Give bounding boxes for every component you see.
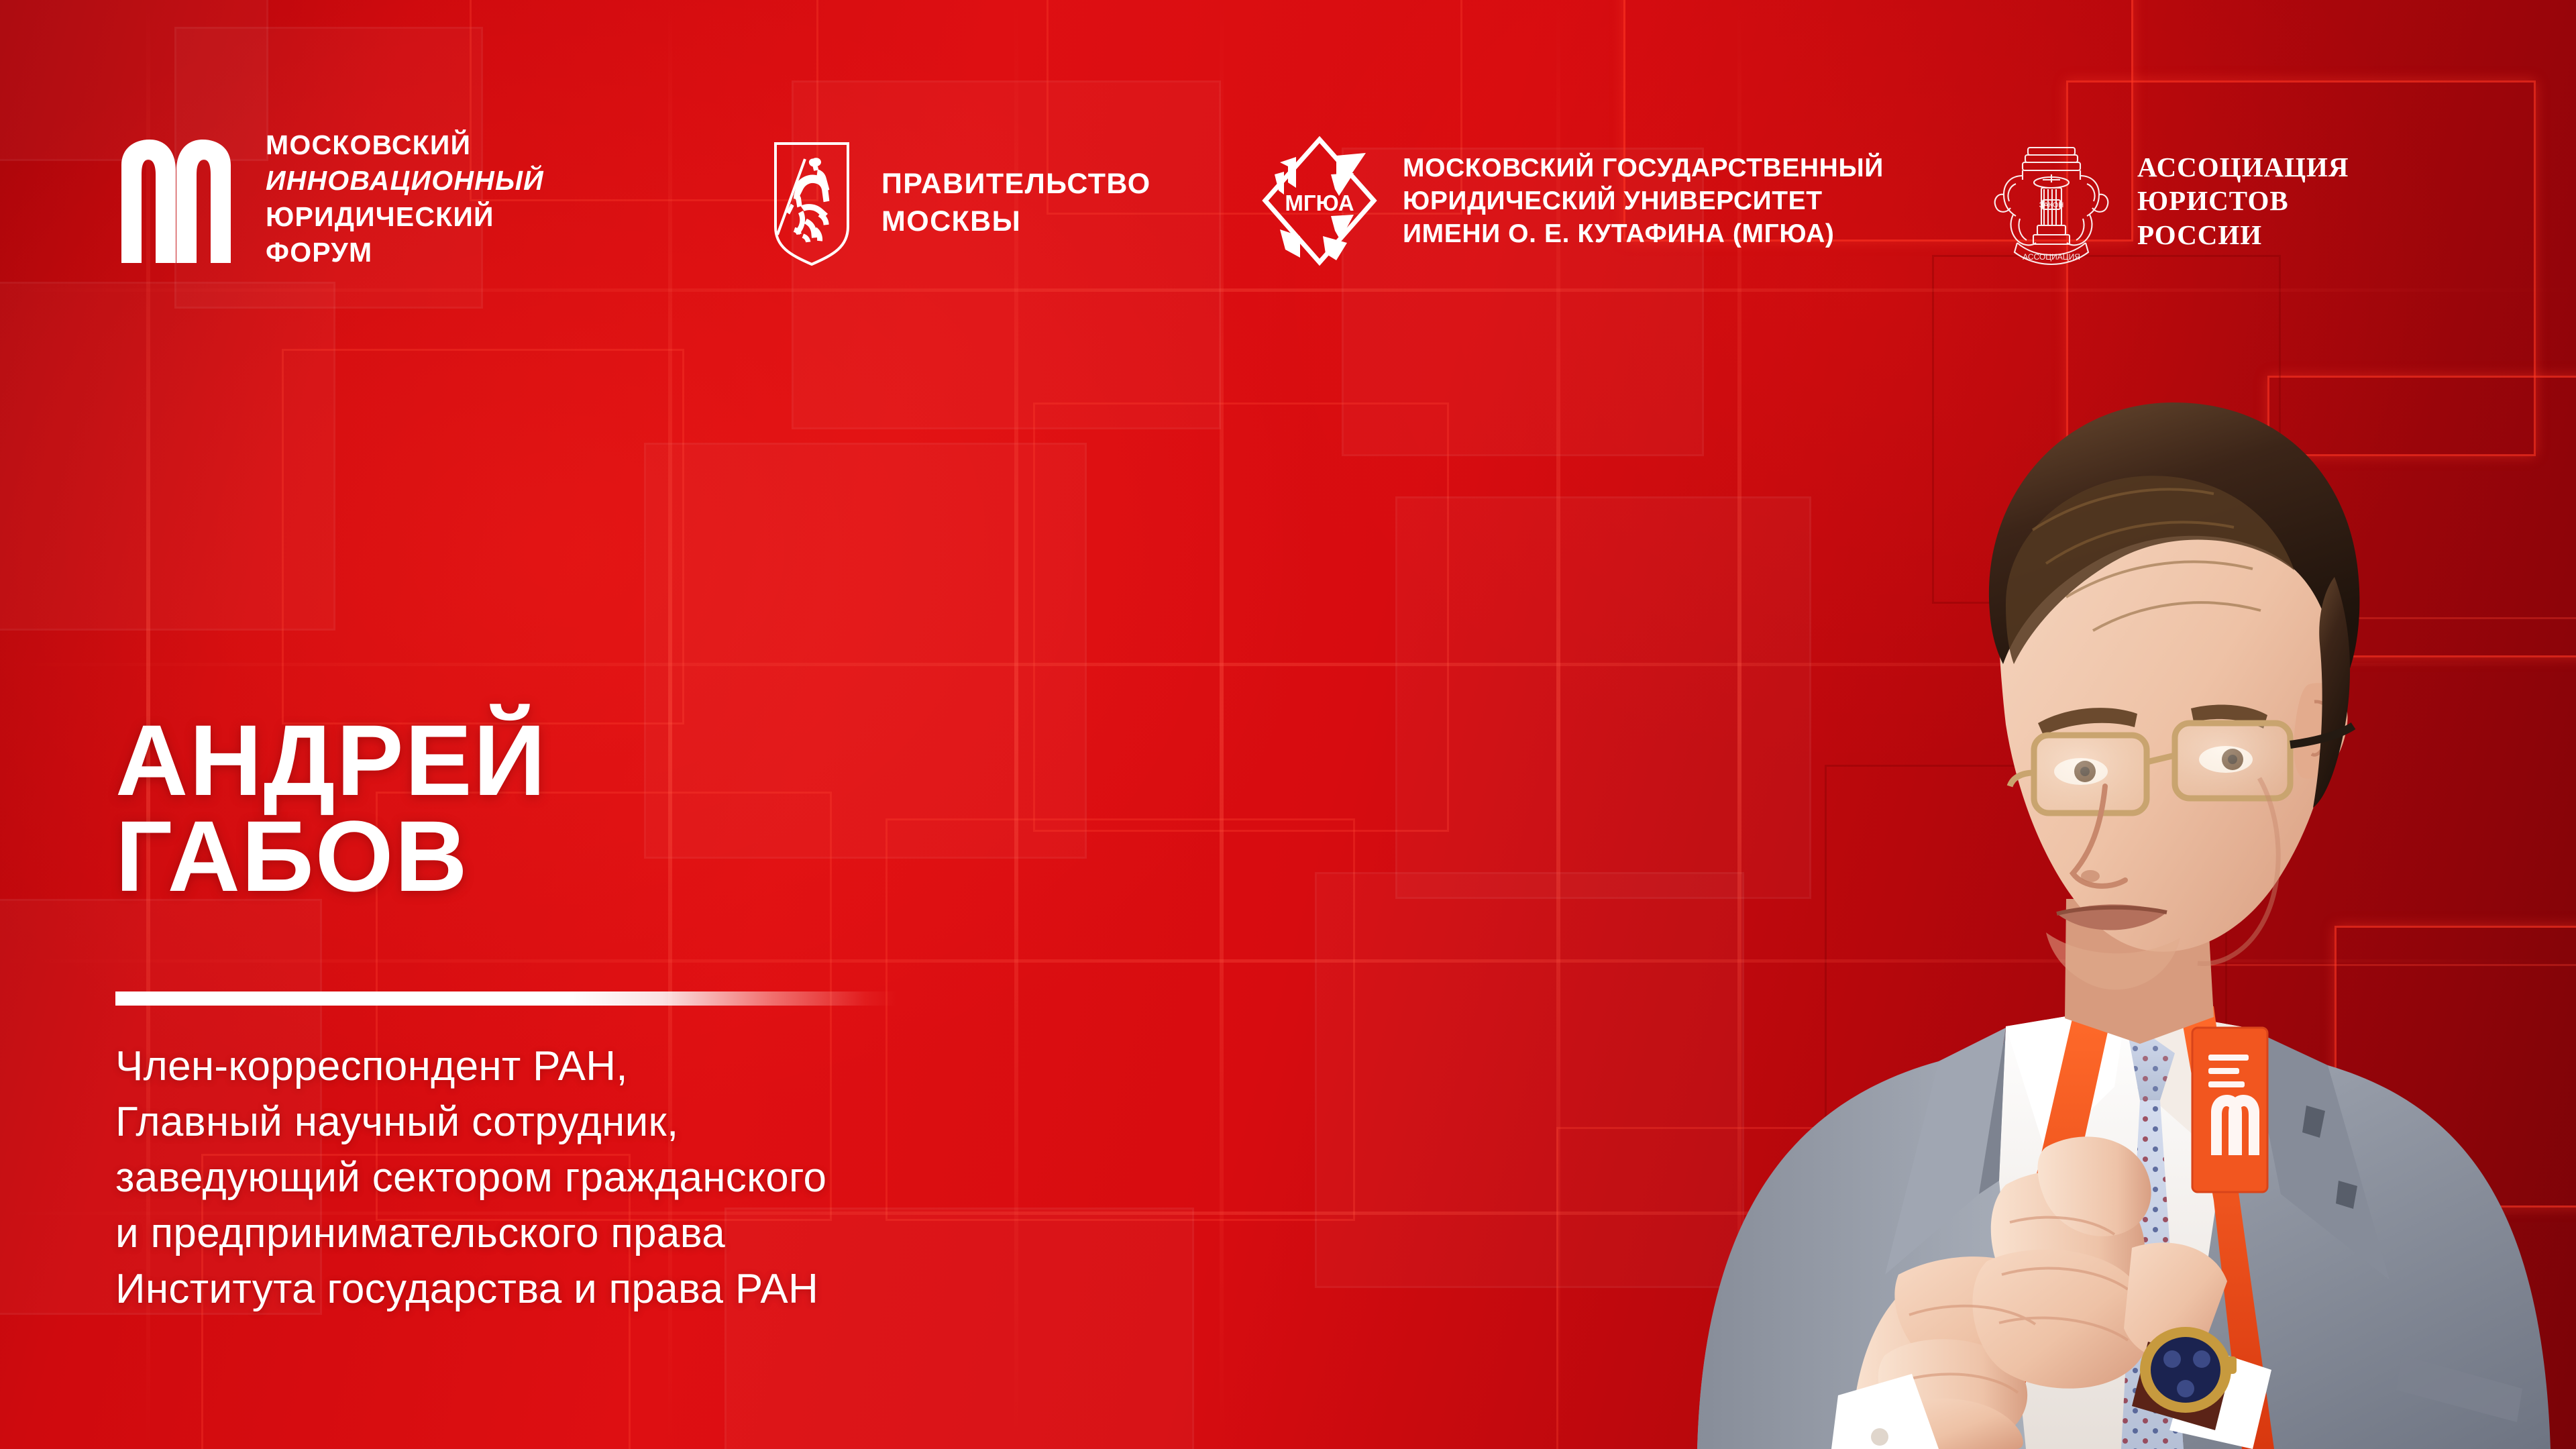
logo-moscow-innovation-legal-forum[interactable]: МОСКОВСКИЙ ИННОВАЦИОННЫЙ ЮРИДИЧЕСКИЙ ФОР… — [117, 127, 544, 270]
speaker-title-line-3: заведующий сектором гражданского — [115, 1150, 826, 1205]
speaker-title-line-1: Член-корреспондент РАН, — [115, 1038, 826, 1094]
alr-zakon-label: ЗАКОН — [2039, 201, 2064, 209]
moscow-coat-of-arms-icon — [771, 140, 852, 267]
speaker-title-line-4: и предпринимательского права — [115, 1205, 826, 1261]
speaker-title-line-2: Главный научный сотрудник, — [115, 1094, 826, 1150]
mif-m-mark-icon — [117, 136, 235, 263]
gov-line-2: МОСКВЫ — [881, 203, 1151, 241]
sponsor-logo-row: МОСКОВСКИЙ ИННОВАЦИОННЫЙ ЮРИДИЧЕСКИЙ ФОР… — [0, 121, 2576, 275]
speaker-title-block: Член-корреспондент РАН, Главный научный … — [115, 1038, 826, 1317]
alr-ribbon-label: АССОЦИАЦИЯ — [2023, 252, 2080, 262]
mgua-line-2: ЮРИДИЧЕСКИЙ УНИВЕРСИТЕТ — [1403, 184, 1884, 217]
speaker-head — [1989, 402, 2360, 989]
moscow-government-wordmark: ПРАВИТЕЛЬСТВО МОСКВЫ — [881, 166, 1151, 241]
mif-line-2: ИННОВАЦИОННЫЙ — [266, 163, 544, 199]
speaker-last-name: ГАБОВ — [115, 808, 547, 904]
mif-line-1: МОСКОВСКИЙ — [266, 127, 544, 163]
alr-line-3: РОССИИ — [2137, 218, 2349, 252]
speaker-portrait — [1536, 309, 2576, 1449]
speaker-first-name: АНДРЕЙ — [115, 712, 547, 808]
mgua-wordmark: МОСКОВСКИЙ ГОСУДАРСТВЕННЫЙ ЮРИДИЧЕСКИЙ У… — [1403, 152, 1884, 250]
mif-wordmark: МОСКОВСКИЙ ИННОВАЦИОННЫЙ ЮРИДИЧЕСКИЙ ФОР… — [266, 127, 544, 270]
alr-line-2: ЮРИСТОВ — [2137, 184, 2349, 217]
alr-wordmark: АССОЦИАЦИЯ ЮРИСТОВ РОССИИ — [2137, 150, 2349, 251]
mgua-diamond-icon: МГЮА — [1261, 136, 1379, 266]
name-divider-rule — [115, 991, 897, 1006]
mgua-line-3: ИМЕНИ О. Е. КУТАФИНА (МГЮА) — [1403, 217, 1884, 250]
speaker-name-block: АНДРЕЙ ГАБОВ — [115, 712, 547, 904]
alr-crest-icon: ЗАКОН АССОЦИАЦИЯ — [1989, 136, 2113, 266]
mif-line-4: ФОРУМ — [266, 235, 544, 270]
logo-moscow-government[interactable]: ПРАВИТЕЛЬСТВО МОСКВЫ — [771, 140, 1151, 267]
mgua-line-1: МОСКОВСКИЙ ГОСУДАРСТВЕННЫЙ — [1403, 152, 1884, 184]
mif-line-3: ЮРИДИЧЕСКИЙ — [266, 199, 544, 235]
alr-line-1: АССОЦИАЦИЯ — [2137, 150, 2349, 184]
slide-canvas: МОСКОВСКИЙ ИННОВАЦИОННЫЙ ЮРИДИЧЕСКИЙ ФОР… — [0, 0, 2576, 1449]
speaker-title-line-5: Института государства и права РАН — [115, 1261, 826, 1317]
logo-mgua-kutafin-university[interactable]: МГЮА МОСКОВСКИЙ ГОСУДАРСТВЕННЫЙ ЮРИДИЧЕС… — [1261, 136, 1884, 266]
gov-line-1: ПРАВИТЕЛЬСТВО — [881, 166, 1151, 203]
svg-text:МГЮА: МГЮА — [1285, 191, 1354, 215]
logo-association-of-lawyers-of-russia[interactable]: ЗАКОН АССОЦИАЦИЯ АССОЦИАЦИЯ ЮРИСТОВ РОСС… — [1989, 136, 2349, 266]
